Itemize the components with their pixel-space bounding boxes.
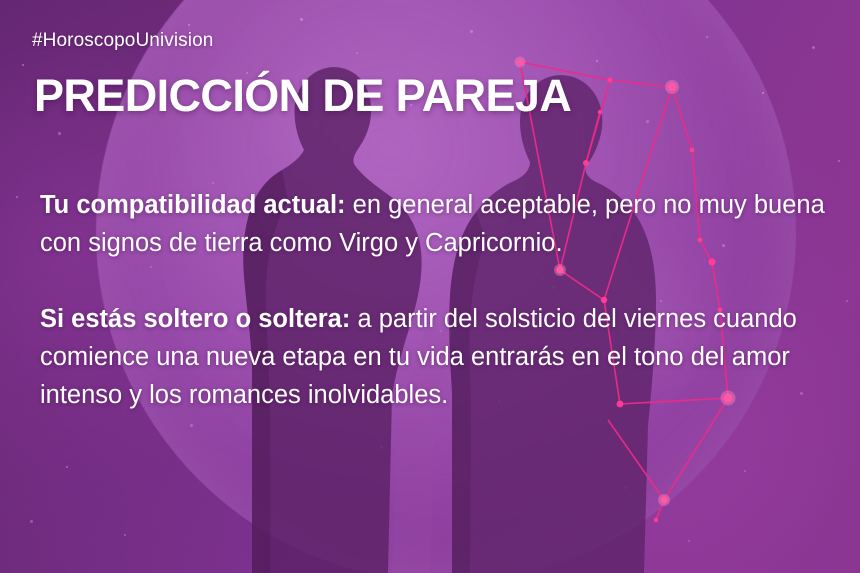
prediction-body: Tu compatibilidad actual: en general ace… <box>40 186 840 414</box>
paragraph-compatibility-lead: Tu compatibilidad actual: <box>40 191 346 219</box>
page-title: PREDICCIÓN DE PAREJA <box>34 73 571 119</box>
paragraph-single: Si estás soltero o soltera: a partir del… <box>40 300 840 414</box>
card-content: #HoroscopoUnivision PREDICCIÓN DE PAREJA… <box>0 0 860 573</box>
horoscope-card: #HoroscopoUnivision PREDICCIÓN DE PAREJA… <box>0 0 860 573</box>
paragraph-single-lead: Si estás soltero o soltera: <box>40 305 350 333</box>
paragraph-compatibility: Tu compatibilidad actual: en general ace… <box>40 186 840 262</box>
hashtag-label: #HoroscopoUnivision <box>32 30 213 52</box>
